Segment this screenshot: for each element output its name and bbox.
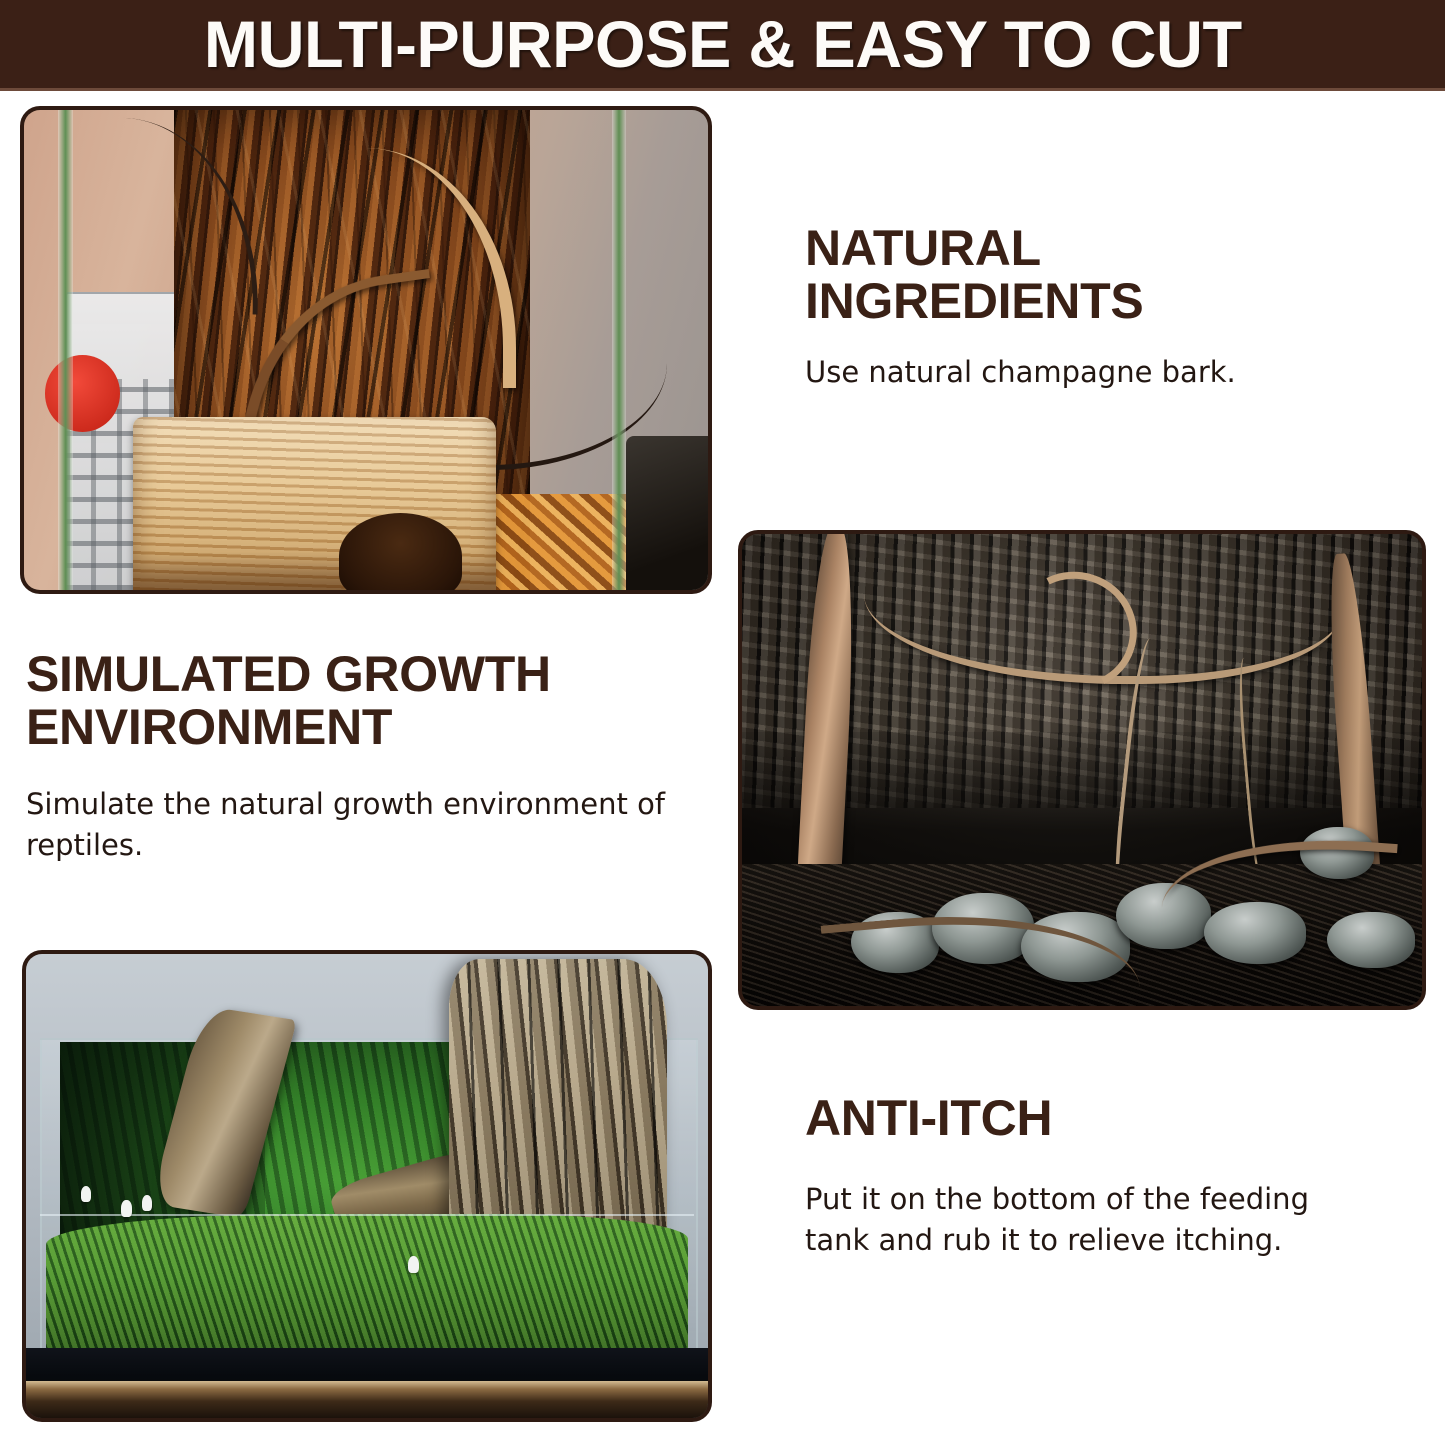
photo-moss-vivarium	[22, 950, 712, 1422]
photo-dark-terrarium-content	[742, 534, 1422, 1006]
dark-equipment-layer	[626, 436, 708, 590]
feature-heading-simulated-growth: SIMULATED GROWTH ENVIRONMENT	[26, 648, 716, 754]
feature-simulated-growth-environment: SIMULATED GROWTH ENVIRONMENT Simulate th…	[26, 648, 716, 866]
heading-line-1: SIMULATED GROWTH	[26, 646, 551, 702]
feature-body-anti-itch: Put it on the bottom of the feeding tank…	[805, 1179, 1345, 1261]
miniature-figurine	[142, 1195, 152, 1211]
glass-edge-right-layer	[612, 110, 626, 590]
feature-heading-anti-itch: ANTI-ITCH	[805, 1092, 1345, 1145]
miniature-figurine	[81, 1186, 92, 1202]
header-banner: MULTI-PURPOSE & EASY TO CUT	[0, 0, 1445, 88]
heading-line-2: ENVIRONMENT	[26, 699, 392, 755]
glass-edge-left-layer	[58, 110, 73, 590]
heading-line-1: NATURAL	[805, 220, 1041, 276]
heading-line-2: INGREDIENTS	[805, 273, 1143, 329]
banner-underline	[0, 88, 1445, 91]
photo-terrarium-branch	[20, 106, 712, 594]
glass-seam-line	[40, 1214, 695, 1216]
feature-body-natural-ingredients: Use natural champagne bark.	[805, 352, 1405, 393]
moss-carpet-layer	[46, 1214, 687, 1353]
feature-heading-natural-ingredients: NATURAL INGREDIENTS	[805, 222, 1405, 328]
cork-log-opening-layer	[339, 513, 462, 590]
photo-moss-vivarium-content	[26, 954, 708, 1418]
photo-terrarium-branch-content	[24, 110, 708, 590]
wooden-shelf-layer	[26, 1381, 708, 1418]
photo-dark-terrarium	[738, 530, 1426, 1010]
feature-natural-ingredients: NATURAL INGREDIENTS Use natural champagn…	[805, 222, 1405, 393]
red-cap-layer	[45, 355, 120, 432]
feature-body-simulated-growth: Simulate the natural growth environment …	[26, 784, 716, 866]
banner-title: MULTI-PURPOSE & EASY TO CUT	[196, 11, 1250, 77]
miniature-figurine	[121, 1200, 131, 1217]
miniature-figurine	[408, 1256, 419, 1274]
feature-anti-itch: ANTI-ITCH Put it on the bottom of the fe…	[805, 1092, 1345, 1261]
